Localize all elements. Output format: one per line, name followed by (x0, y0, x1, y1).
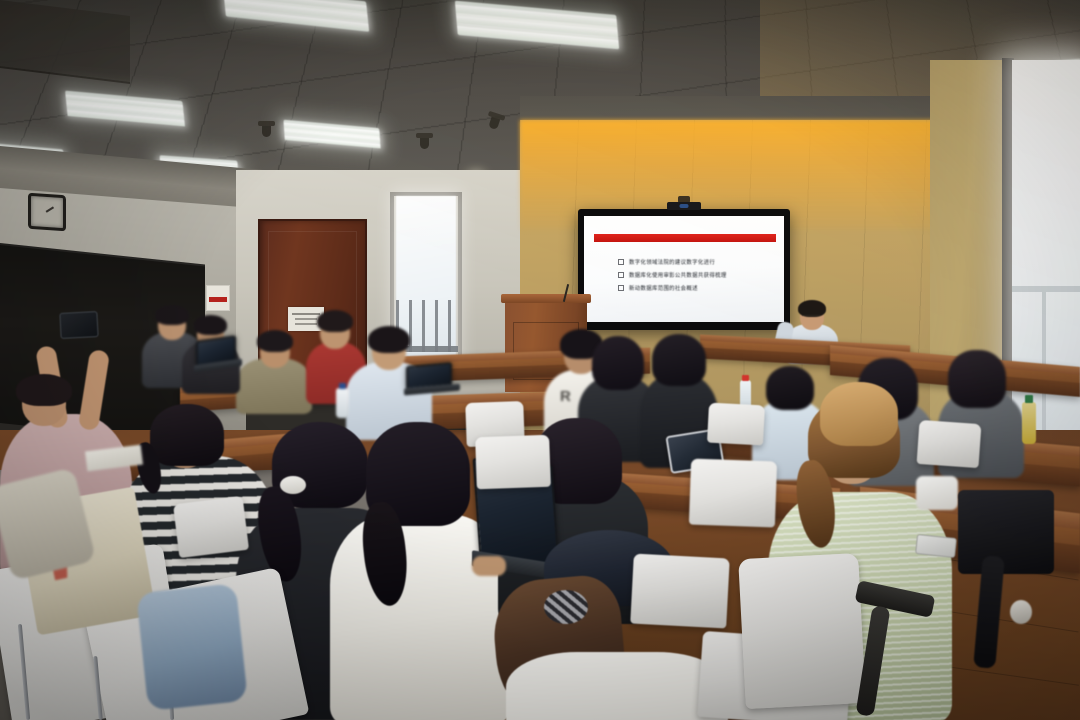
slide-bullet-text: 新动数据库范围的社会概述 (629, 284, 698, 292)
bullet-marker-icon (618, 285, 624, 291)
chair-back (738, 553, 866, 709)
bottle-cap-icon (1025, 395, 1033, 403)
chair-back (917, 420, 982, 468)
chair-back (173, 496, 249, 558)
ceiling-speaker (262, 124, 271, 137)
hair-scrunchie-icon (280, 476, 306, 494)
slide-bullet-item: 数据库化使用审影公共数据共获得梳理 (618, 271, 768, 279)
attendee-light-hair (820, 382, 900, 452)
slide-bullet-text: 数字化领域法院的建议数字化进行 (629, 258, 715, 266)
camera-bar-icon (667, 202, 701, 210)
bottle-cap-icon (339, 383, 346, 389)
bullet-marker-icon (618, 272, 624, 278)
tissue-pack (916, 476, 958, 510)
denim-jacket-on-chair (136, 583, 248, 711)
slide-red-rule (594, 234, 776, 242)
hair (194, 315, 227, 335)
hair (368, 326, 410, 353)
open-laptop[interactable] (196, 338, 242, 372)
hair (150, 404, 224, 466)
wall-clock-icon (28, 193, 66, 232)
bag-charm-icon (1010, 600, 1032, 624)
smartphone-on-desk[interactable] (915, 534, 957, 558)
chair-back (689, 459, 777, 528)
chair-back (475, 435, 551, 490)
slide-content: 数字化领域法院的建议数字化进行 数据库化使用审影公共数据共获得梳理 新动数据库范… (584, 216, 784, 322)
hair (16, 374, 72, 406)
torso (506, 652, 728, 720)
water-bottle (336, 388, 349, 418)
raised-arm (78, 349, 110, 431)
hair (652, 334, 706, 386)
chair-back (707, 403, 765, 446)
bullet-marker-icon (618, 259, 624, 265)
hair (592, 336, 644, 390)
hair-scrunchie-icon (544, 590, 588, 624)
lecture-hall-photo: 数字化领域法院的建议数字化进行 数据库化使用审影公共数据共获得梳理 新动数据库范… (0, 0, 1080, 720)
bottle-cap-icon (742, 375, 749, 381)
ceiling-speaker (420, 136, 429, 149)
slide-bullet-item: 数字化领域法院的建议数字化进行 (618, 258, 768, 266)
chair-back (630, 554, 730, 629)
beverage-bottle (1022, 402, 1036, 444)
lectern-top (501, 294, 591, 303)
hair (257, 330, 293, 352)
eyeglasses-icon (802, 315, 821, 320)
smartphone-raised[interactable] (59, 311, 98, 339)
slide-bullet-item: 新动数据库范围的社会概述 (618, 284, 768, 292)
slide-bullet-text: 数据库化使用审影公共数据共获得梳理 (629, 271, 727, 279)
open-laptop[interactable] (406, 364, 460, 396)
hair (820, 382, 898, 446)
slide-bullet-list: 数字化领域法院的建议数字化进行 数据库化使用审影公共数据共获得梳理 新动数据库范… (618, 258, 768, 297)
wall-notice-sign (206, 285, 230, 311)
tee-letter-r: R (560, 388, 571, 405)
presentation-display[interactable]: 数字化领域法院的建议数字化进行 数据库化使用审影公共数据共获得梳理 新动数据库范… (578, 209, 790, 330)
black-handbag (958, 490, 1054, 574)
